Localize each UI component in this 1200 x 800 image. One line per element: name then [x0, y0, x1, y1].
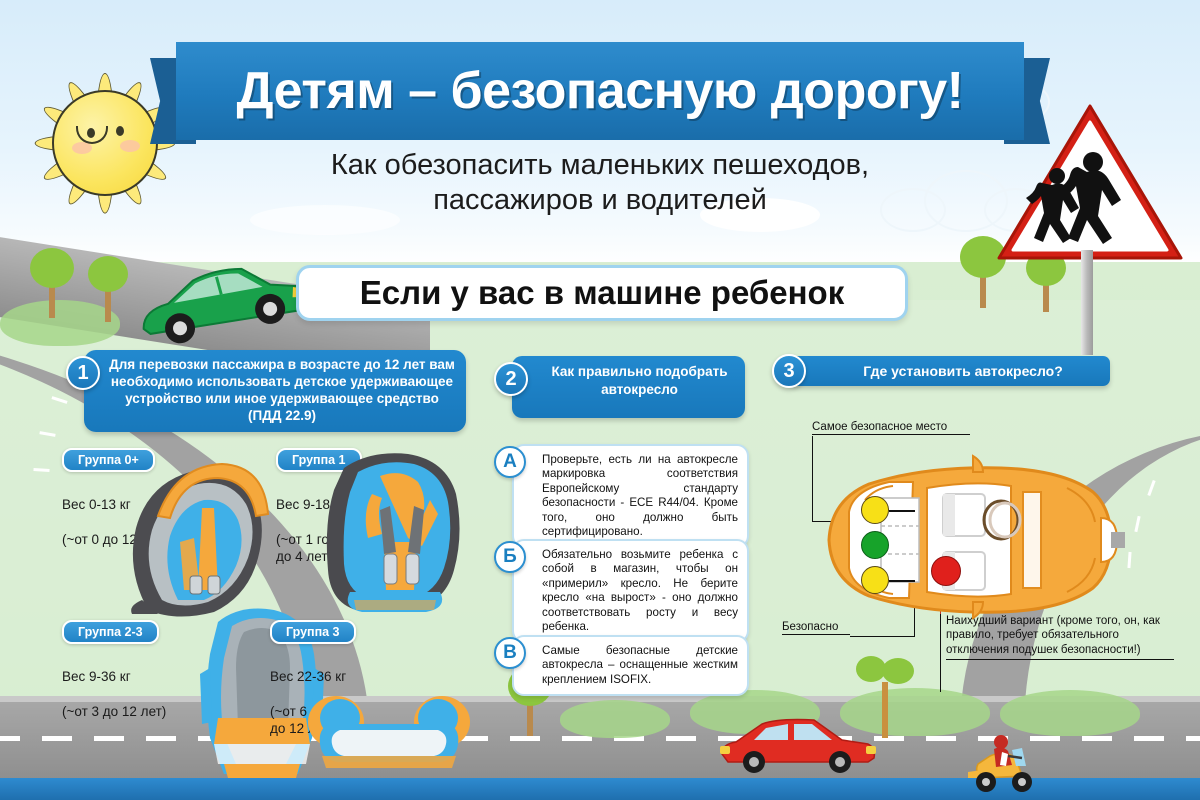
road-dash — [1186, 736, 1200, 741]
section-2-number: 2 — [505, 368, 516, 391]
seat-group-3-pill: Группа 3 — [270, 620, 356, 644]
section-1-text: Для перевозки пассажира в возрасте до 12… — [109, 357, 455, 423]
road-dash — [562, 736, 592, 741]
section-2-title: Как правильно подобрать автокресло — [552, 364, 728, 397]
item-b-card: Обязательно возьмите ребенка с собой в м… — [512, 539, 749, 643]
road-dash — [1134, 736, 1164, 741]
section-3-number: 3 — [783, 360, 794, 383]
main-heading-text: Если у вас в машине ребенок — [360, 274, 844, 312]
item-v-text: Самые безопасные детские автокресла – ос… — [542, 644, 738, 686]
seat-marker-rear-right — [861, 566, 889, 594]
road-dash — [510, 736, 540, 741]
seat-marker-front-passenger — [931, 556, 961, 586]
subtitle-line-1: Как обезопасить маленьких пешеходов, — [200, 148, 1000, 183]
header-ribbon: Детям – безопасную дорогу! — [150, 42, 1050, 152]
sign-pole — [1081, 250, 1093, 355]
tree — [30, 248, 74, 318]
section-1-number-badge: 1 — [66, 356, 100, 390]
car-top-view-diagram — [805, 448, 1125, 633]
booster-cushion-illustration — [300, 666, 475, 781]
annotation-safest-place: Самое безопасное место — [812, 420, 970, 435]
infographic-poster: Детям – безопасную дорогу! Как обезопаси… — [0, 0, 1200, 800]
leader-dot-rear-left — [889, 510, 915, 512]
item-a-letter-badge: А — [494, 446, 526, 478]
section-3-title: Где установить автокресло? — [863, 363, 1063, 379]
seat-marker-rear-left — [861, 496, 889, 524]
red-sedan-illustration — [718, 710, 878, 779]
ribbon-banner: Детям – безопасную дорогу! — [176, 42, 1024, 140]
toddler-seat-illustration — [310, 442, 480, 622]
yellow-scooter-with-rider-illustration — [960, 732, 1038, 799]
item-a-letter: А — [503, 451, 517, 473]
item-a-card: Проверьте, есть ли на автокресле маркиро… — [512, 444, 749, 548]
section-3-number-badge: 3 — [772, 354, 806, 388]
seat-group-2-3-pill: Группа 2-3 — [62, 620, 159, 644]
section-3-callout: Где установить автокресло? — [790, 356, 1110, 386]
leader-line-safe-horizontal — [850, 636, 915, 637]
bush — [1000, 690, 1140, 736]
road-dash — [666, 736, 696, 741]
item-v-card: Самые безопасные детские автокресла – ос… — [512, 635, 749, 696]
item-b-text: Обязательно возьмите ребенка с собой в м… — [542, 548, 738, 633]
poster-title: Детям – безопасную дорогу! — [237, 61, 964, 121]
section-1-callout: Для перевозки пассажира в возрасте до 12… — [84, 350, 466, 432]
leader-dot-rear-right — [889, 580, 915, 582]
seat-marker-rear-center — [861, 531, 889, 559]
tree — [88, 256, 128, 322]
poster-subtitle: Как обезопасить маленьких пешеходов, пас… — [200, 148, 1000, 219]
subtitle-line-2: пассажиров и водителей — [200, 183, 1000, 218]
main-heading-banner: Если у вас в машине ребенок — [296, 265, 908, 321]
section-1-number: 1 — [77, 362, 88, 385]
item-v-letter: В — [503, 642, 517, 664]
item-v-letter-badge: В — [494, 637, 526, 669]
item-a-text: Проверьте, есть ли на автокресле маркиро… — [542, 453, 738, 538]
section-2-callout: Как правильно подобрать автокресло — [512, 356, 745, 418]
section-2-number-badge: 2 — [494, 362, 528, 396]
road-dash — [0, 736, 20, 741]
bush — [560, 700, 670, 738]
item-b-letter-badge: Б — [494, 541, 526, 573]
road-dash — [926, 736, 956, 741]
road-dash — [1082, 736, 1112, 741]
item-b-letter: Б — [503, 546, 517, 568]
